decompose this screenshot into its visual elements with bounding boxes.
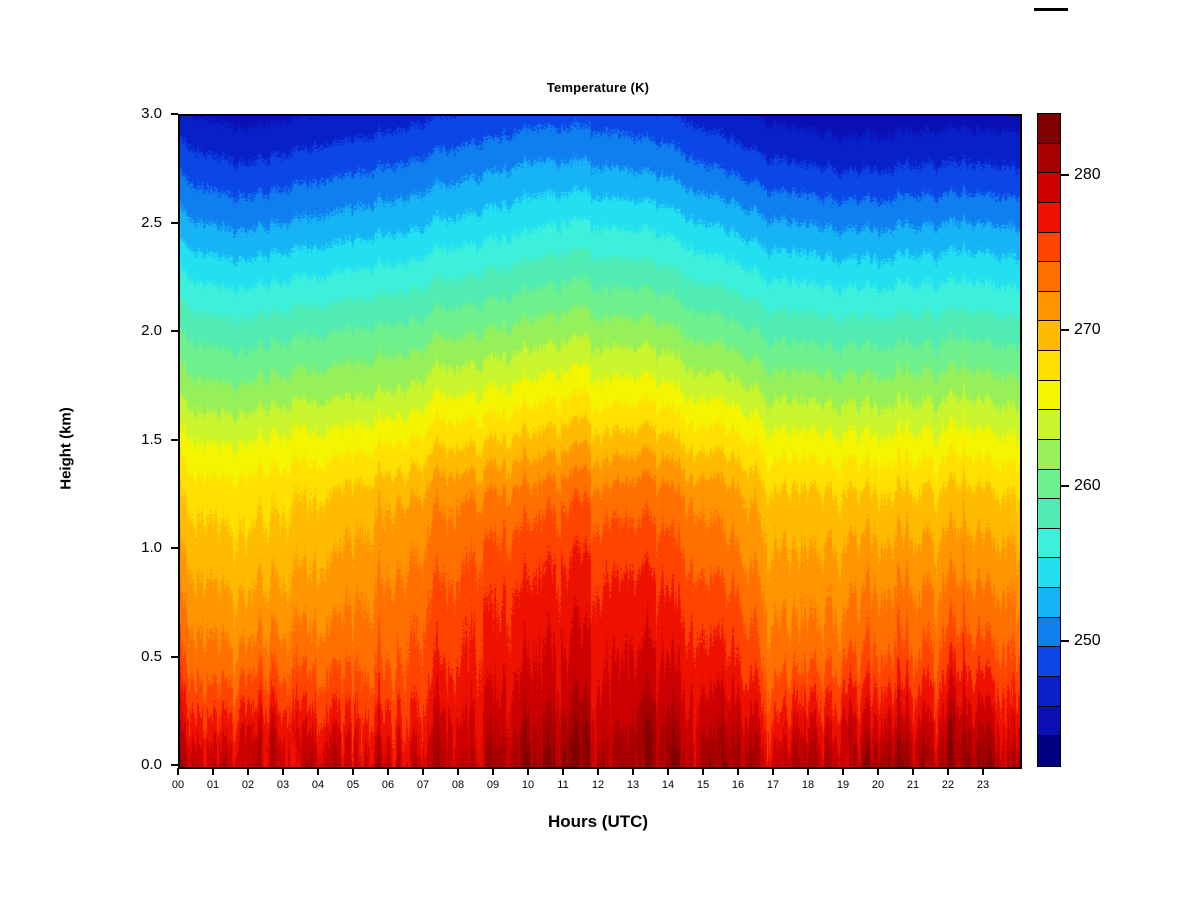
x-tick-label: 21 [896,779,930,791]
x-tick-mark [282,768,284,775]
y-tick-label: 0.5 [106,649,162,664]
colorbar-band [1038,410,1060,440]
x-tick-mark [947,768,949,775]
x-tick-mark [247,768,249,775]
y-tick-mark [171,547,178,549]
x-tick-label: 10 [511,779,545,791]
x-tick-mark [772,768,774,775]
y-tick-mark [171,764,178,766]
x-tick-label: 02 [231,779,265,791]
x-tick-mark [842,768,844,775]
x-tick-label: 23 [966,779,1000,791]
colorbar-band [1038,381,1060,411]
x-tick-label: 19 [826,779,860,791]
x-tick-mark [177,768,179,775]
x-tick-mark [807,768,809,775]
x-tick-label: 16 [721,779,755,791]
x-tick-label: 18 [791,779,825,791]
y-tick-mark [171,656,178,658]
colorbar-band [1038,114,1060,144]
colorbar-band [1038,173,1060,203]
x-tick-mark [212,768,214,775]
y-tick: 2.0 [106,323,162,338]
colorbar-band [1038,707,1060,737]
x-tick-mark [422,768,424,775]
x-tick-mark [527,768,529,775]
colorbar-band [1038,321,1060,351]
colorbar-band [1038,203,1060,233]
x-tick-mark [877,768,879,775]
y-tick: 3.0 [106,106,162,121]
colorbar-band [1038,262,1060,292]
y-tick-mark [171,113,178,115]
colorbar-tick-label: 250 [1074,633,1101,649]
y-tick: 2.5 [106,215,162,230]
colorbar-tick-mark [1061,329,1069,331]
x-tick-label: 03 [266,779,300,791]
x-tick-mark [667,768,669,775]
x-tick-label: 20 [861,779,895,791]
colorbar-tick-label: 270 [1074,322,1101,338]
colorbar-tick-mark [1061,174,1069,176]
x-tick-mark [912,768,914,775]
x-tick-mark [352,768,354,775]
x-tick-mark [457,768,459,775]
colorbar-tick-mark [1061,485,1069,487]
colorbar-band [1038,529,1060,559]
x-tick-mark [387,768,389,775]
heatmap-plot-area [178,114,1022,769]
x-axis-label: Hours (UTC) [178,812,1018,832]
x-tick-label: 14 [651,779,685,791]
x-tick-label: 22 [931,779,965,791]
x-tick-label: 13 [616,779,650,791]
y-axis-label: Height (km) [58,369,75,529]
y-tick: 1.5 [106,432,162,447]
colorbar-band [1038,677,1060,707]
x-tick-mark [632,768,634,775]
x-tick-label: 15 [686,779,720,791]
colorbar-band [1038,499,1060,529]
colorbar [1037,113,1061,767]
y-tick: 1.0 [106,540,162,555]
x-tick-label: 11 [546,779,580,791]
x-tick-mark [702,768,704,775]
temperature-time-height-figure: Temperature (K) Height (km) Hours (UTC) … [0,0,1200,900]
colorbar-band [1038,351,1060,381]
colorbar-tick-label: 260 [1074,478,1101,494]
x-tick-label: 09 [476,779,510,791]
x-tick-mark [317,768,319,775]
x-tick-label: 06 [371,779,405,791]
y-tick-label: 2.0 [106,323,162,338]
y-tick-label: 1.0 [106,540,162,555]
y-tick-label: 2.5 [106,215,162,230]
colorbar-band [1038,588,1060,618]
x-tick-label: 04 [301,779,335,791]
colorbar-tick-label: 280 [1074,167,1101,183]
x-tick-mark [982,768,984,775]
corner-tick-artifact [1034,8,1068,11]
y-tick: 0.5 [106,649,162,664]
colorbar-band [1038,144,1060,174]
y-tick-label: 1.5 [106,432,162,447]
x-tick-label: 08 [441,779,475,791]
x-tick-label: 12 [581,779,615,791]
y-tick-label: 3.0 [106,106,162,121]
y-tick-mark [171,439,178,441]
temperature-heatmap [180,116,1020,767]
y-tick: 0.0 [106,757,162,772]
colorbar-band [1038,618,1060,648]
x-tick-mark [597,768,599,775]
x-tick-label: 05 [336,779,370,791]
x-tick-label: 00 [161,779,195,791]
colorbar-band [1038,292,1060,322]
x-tick-mark [737,768,739,775]
x-tick-label: 07 [406,779,440,791]
colorbar-band [1038,736,1060,766]
y-tick-label: 0.0 [106,757,162,772]
x-tick-label: 17 [756,779,790,791]
colorbar-band [1038,233,1060,263]
colorbar-band [1038,470,1060,500]
y-tick-mark [171,222,178,224]
y-tick-mark [171,330,178,332]
plot-title: Temperature (K) [178,80,1018,95]
x-tick-label: 01 [196,779,230,791]
colorbar-band [1038,558,1060,588]
x-tick-mark [492,768,494,775]
colorbar-tick-mark [1061,640,1069,642]
colorbar-band [1038,440,1060,470]
colorbar-band [1038,647,1060,677]
x-tick-mark [562,768,564,775]
